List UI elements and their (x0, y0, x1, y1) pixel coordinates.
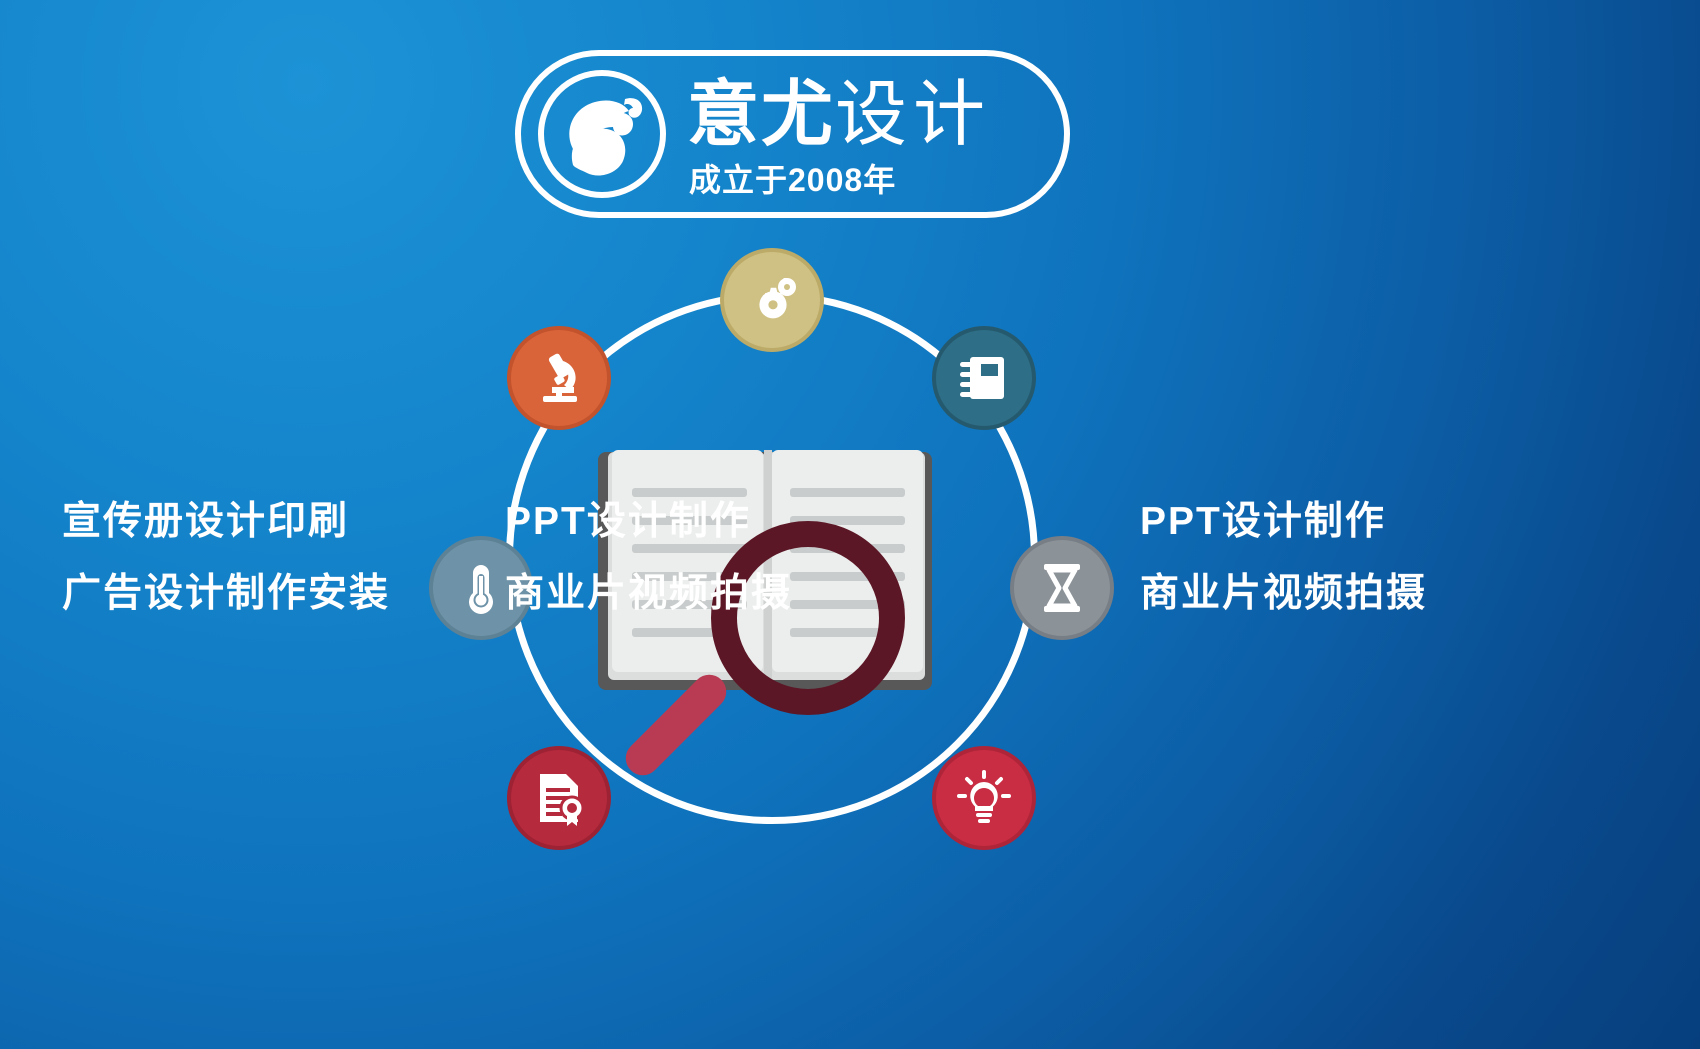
brand-tagline: 成立于2008年 (689, 162, 896, 198)
leaf-bird-logo-icon (537, 69, 667, 199)
service-right-line-2: 商业片视频拍摄 (1140, 558, 1427, 630)
services-middle-column: PPT设计制作 商业片视频拍摄 (505, 486, 792, 630)
service-mid-line-1: PPT设计制作 (505, 486, 792, 558)
notebook-icon (956, 350, 1012, 406)
microscope-icon (530, 349, 588, 407)
badge-gears[interactable] (720, 248, 824, 352)
badge-hourglass[interactable] (1010, 536, 1114, 640)
brand-name-bold: 意尤 (687, 75, 835, 155)
slide-canvas: 意尤设计 成立于2008年 (0, 0, 1700, 1049)
badge-notebook[interactable] (932, 326, 1036, 430)
brand-name-thin: 设计 (835, 75, 991, 155)
service-mid-line-2: 商业片视频拍摄 (505, 558, 792, 630)
service-left-line-1: 宣传册设计印刷 (62, 486, 390, 558)
service-left-line-2: 广告设计制作安装 (62, 558, 390, 630)
brand-logo[interactable]: 意尤设计 成立于2008年 (515, 50, 1070, 218)
services-left-column: 宣传册设计印刷 广告设计制作安装 (62, 486, 390, 630)
certificate-icon (532, 770, 586, 826)
badge-microscope[interactable] (507, 326, 611, 430)
brand-wordmark: 意尤设计 成立于2008年 (687, 74, 1057, 194)
gears-icon (743, 271, 801, 329)
service-right-line-1: PPT设计制作 (1140, 486, 1427, 558)
hourglass-icon (1036, 561, 1088, 615)
thermometer-icon (455, 562, 507, 614)
services-right-column: PPT设计制作 商业片视频拍摄 (1140, 486, 1427, 630)
lightbulb-icon (956, 770, 1012, 826)
